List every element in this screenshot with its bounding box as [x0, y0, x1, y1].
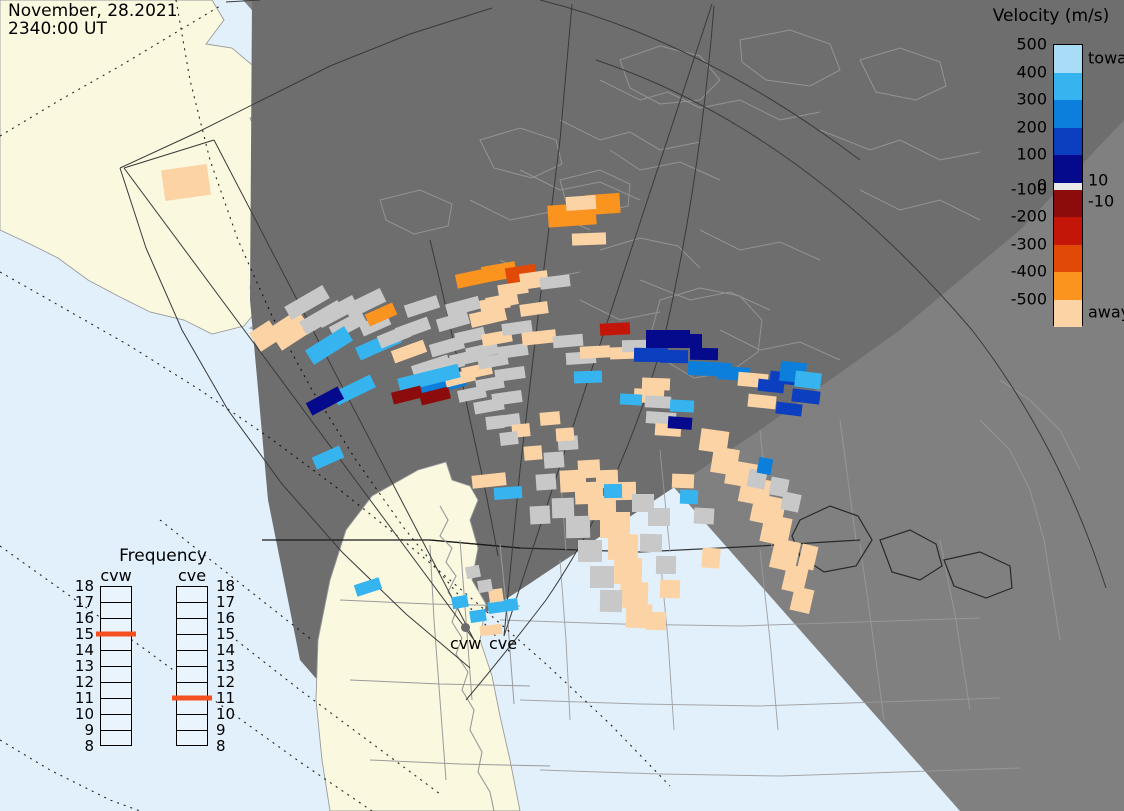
velocity-cell	[794, 370, 822, 389]
velocity-cell	[608, 534, 638, 561]
velocity-cell	[614, 558, 642, 584]
ground-scatter-cell	[645, 395, 672, 408]
ground-scatter-cell	[491, 390, 522, 406]
frequency-column-header-cve: cve	[172, 566, 212, 585]
velocity-color-scale	[1053, 44, 1083, 326]
ground-scatter-cell	[499, 431, 518, 446]
ground-scatter-cell	[477, 579, 493, 593]
velocity-cell	[471, 472, 506, 488]
velocity-cell	[668, 416, 693, 430]
frequency-marker-cve	[172, 696, 212, 701]
velocity-cell	[519, 301, 548, 317]
velocity-cell	[620, 393, 643, 405]
ground-scatter-cell	[485, 415, 504, 430]
frequency-segment	[177, 667, 207, 683]
velocity-cell	[539, 411, 560, 426]
timestamp-date: November, 28.2021	[8, 1, 178, 21]
velocity-band-toward-4	[1054, 155, 1082, 184]
frequency-segment	[101, 715, 131, 731]
velocity-zero-lower-label: -10	[1088, 191, 1114, 210]
frequency-segment	[177, 699, 207, 715]
velocity-cell	[775, 401, 802, 416]
frequency-segment	[101, 667, 131, 683]
velocity-colorbar-title: Velocity (m/s)	[978, 6, 1124, 26]
frequency-segment	[101, 603, 131, 619]
velocity-cell	[791, 388, 820, 404]
ground-scatter-cell	[590, 566, 614, 588]
ground-scatter-cell	[465, 565, 481, 579]
velocity-tick-200: 200	[1016, 117, 1047, 136]
frequency-segment	[101, 651, 131, 667]
ground-scatter-cell	[648, 508, 670, 526]
velocity-away-label: away	[1088, 303, 1124, 322]
ground-scatter-cell	[494, 366, 525, 382]
frequency-segment	[101, 699, 131, 715]
ground-scatter-cell	[578, 540, 602, 562]
velocity-cell	[672, 334, 702, 348]
velocity-tick-100: 100	[1016, 145, 1047, 164]
ground-scatter-cell	[656, 556, 676, 574]
ground-scatter-cell	[535, 473, 556, 490]
frequency-segment	[101, 635, 131, 651]
velocity-cell	[556, 427, 575, 441]
velocity-cell	[574, 371, 602, 384]
velocity-tick-500: 500	[1016, 35, 1047, 54]
frequency-segment	[177, 651, 207, 667]
frequency-bar-cve[interactable]	[176, 586, 208, 746]
frequency-marker-cvw	[96, 632, 136, 637]
timestamp-time: 2340:00 UT	[8, 19, 107, 39]
velocity-cell	[161, 164, 211, 201]
frequency-bar-cvw[interactable]	[100, 586, 132, 746]
velocity-toward-label: toward	[1088, 48, 1124, 67]
velocity-band-toward-3	[1054, 128, 1082, 157]
ground-scatter-cell	[600, 590, 622, 612]
frequency-segment	[177, 587, 207, 603]
ground-scatter-cell	[640, 534, 662, 552]
velocity-cell	[604, 484, 622, 498]
frequency-segment	[101, 731, 131, 747]
ground-scatter-cell	[553, 334, 584, 349]
velocity-cell	[497, 281, 529, 298]
frequency-segment	[101, 683, 131, 699]
frequency-segment	[177, 619, 207, 635]
velocity-tick-300: 300	[1016, 90, 1047, 109]
velocity-band-away-0	[1054, 190, 1082, 219]
frequency-segment	[101, 587, 131, 603]
velocity-tick-neg500: -500	[1011, 289, 1047, 308]
velocity-cell	[305, 326, 353, 365]
velocity-band-toward-2	[1054, 100, 1082, 129]
frequency-segment	[177, 715, 207, 731]
velocity-colorbar-legend: Velocity (m/s) 5004003002001000-100-200-…	[972, 4, 1124, 334]
frequency-tick-cve-8: 8	[216, 737, 226, 755]
ground-scatter-cell	[694, 507, 715, 524]
velocity-cell	[580, 345, 611, 359]
velocity-cell	[747, 394, 776, 410]
radar-map-application: November, 28.20212340:00 UT Velocity (m/…	[0, 0, 1124, 811]
ground-scatter-cell	[454, 327, 486, 345]
velocity-tick-400: 400	[1016, 62, 1047, 81]
ground-scatter-cell	[566, 516, 590, 538]
velocity-band-away-1	[1054, 217, 1082, 246]
radar-site-label-cvw: cvw	[450, 634, 481, 653]
velocity-band-toward-0	[1054, 45, 1082, 74]
velocity-cell	[479, 295, 511, 312]
ground-scatter-cell	[404, 295, 440, 318]
frequency-legend: Frequency cvw18171615141312111098cve1817…	[88, 546, 238, 786]
radar-site-dot	[461, 623, 470, 632]
velocity-cell	[451, 595, 469, 610]
velocity-tick-neg100: -100	[1011, 179, 1047, 198]
velocity-band-zero	[1054, 183, 1082, 190]
radar-site-label-cve: cve	[489, 634, 517, 653]
velocity-cell	[798, 544, 819, 571]
velocity-cell	[680, 490, 698, 505]
velocity-tick-neg300: -300	[1011, 234, 1047, 253]
velocity-tick-neg200: -200	[1011, 207, 1047, 226]
velocity-cell	[306, 386, 344, 415]
ground-scatter-cell	[552, 498, 575, 519]
velocity-band-away-3	[1054, 272, 1082, 301]
ground-scatter-cell	[543, 451, 564, 468]
ground-scatter-cell	[395, 317, 431, 341]
velocity-cell	[469, 609, 487, 623]
ground-scatter-cell	[780, 491, 801, 512]
velocity-cell	[312, 445, 345, 469]
velocity-band-toward-1	[1054, 73, 1082, 102]
velocity-cell	[690, 348, 718, 360]
velocity-cell	[670, 399, 695, 412]
velocity-zero-upper-label: 10	[1088, 170, 1108, 189]
velocity-cell	[757, 457, 774, 475]
velocity-cell	[494, 486, 523, 500]
velocity-tick-neg400: -400	[1011, 262, 1047, 281]
velocity-cell	[566, 195, 597, 211]
frequency-segment	[177, 731, 207, 747]
frequency-tick-cvw-8: 8	[72, 737, 94, 755]
velocity-cell	[572, 232, 606, 245]
frequency-segment	[177, 635, 207, 651]
velocity-band-away-4	[1054, 300, 1082, 328]
timestamp-label: November, 28.20212340:00 UT	[8, 2, 178, 38]
velocity-cell	[660, 580, 681, 599]
velocity-cell	[354, 577, 382, 596]
frequency-segment	[177, 603, 207, 619]
velocity-cell	[642, 378, 670, 391]
velocity-cell	[523, 445, 542, 461]
velocity-cell	[600, 322, 631, 336]
velocity-cell	[672, 474, 694, 489]
velocity-cell	[646, 612, 667, 631]
frequency-legend-title: Frequency	[88, 546, 238, 566]
velocity-cell	[701, 547, 720, 568]
velocity-band-away-2	[1054, 245, 1082, 274]
velocity-cell	[660, 350, 688, 363]
ground-scatter-cell	[530, 505, 551, 524]
frequency-column-header-cvw: cvw	[96, 566, 136, 585]
